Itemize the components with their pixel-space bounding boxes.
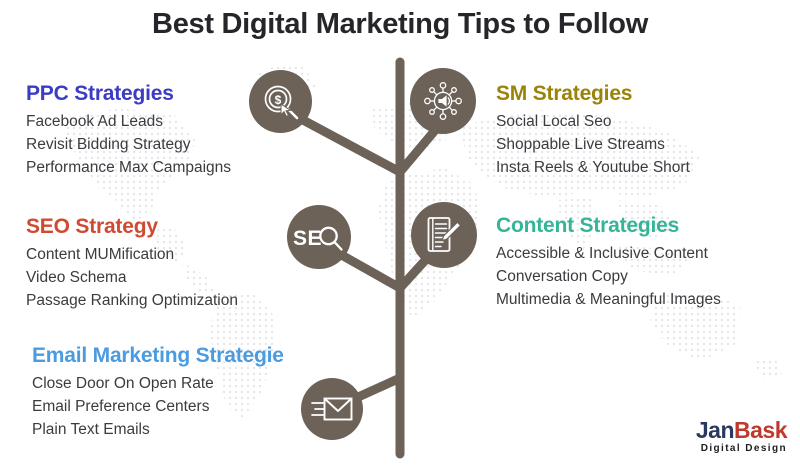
document-pencil-icon: [424, 215, 464, 255]
list-item: Shoppable Live Streams: [496, 134, 690, 157]
icon-node-content[interactable]: [411, 202, 477, 268]
list-item: Plain Text Emails: [32, 419, 284, 442]
icon-node-ppc[interactable]: $: [249, 70, 312, 133]
magnifier-dollar-cursor-icon: $: [261, 82, 301, 122]
list-item: Multimedia & Meaningful Images: [496, 289, 721, 312]
logo-part-bask: Bask: [734, 417, 787, 443]
list-item: Close Door On Open Rate: [32, 373, 284, 396]
list-item: Accessible & Inclusive Content: [496, 243, 721, 266]
list-item: Conversation Copy: [496, 266, 721, 289]
list-item: Social Local Seo: [496, 111, 690, 134]
section-heading-seo: SEO Strategy: [26, 215, 238, 238]
list-item: Facebook Ad Leads: [26, 111, 231, 134]
logo-tagline: Digital Design: [696, 444, 787, 454]
section-seo: SEO Strategy Content MUMification Video …: [26, 215, 238, 312]
icon-node-sm[interactable]: [410, 68, 476, 134]
section-list-sm: Social Local Seo Shoppable Live Streams …: [496, 111, 690, 179]
icon-node-email[interactable]: [301, 378, 363, 440]
envelope-send-icon: [311, 394, 353, 424]
brand-logo[interactable]: JanBask Digital Design: [696, 419, 787, 454]
list-item: Insta Reels & Youtube Short: [496, 157, 690, 180]
section-ppc: PPC Strategies Facebook Ad Leads Revisit…: [26, 82, 231, 179]
section-list-email: Close Door On Open Rate Email Preference…: [32, 373, 284, 441]
section-email: Email Marketing Strategie Close Door On …: [32, 344, 284, 441]
list-item: Content MUMification: [26, 244, 238, 267]
infographic-canvas: Best Digital Marketing Tips to Follow: [0, 0, 800, 466]
seo-magnifier-icon: SE: [291, 221, 347, 253]
section-list-seo: Content MUMification Video Schema Passag…: [26, 244, 238, 312]
page-title: Best Digital Marketing Tips to Follow: [0, 8, 800, 41]
list-item: Revisit Bidding Strategy: [26, 134, 231, 157]
section-heading-email: Email Marketing Strategie: [32, 344, 284, 367]
list-item: Passage Ranking Optimization: [26, 290, 238, 313]
section-heading-sm: SM Strategies: [496, 82, 690, 105]
section-content: Content Strategies Accessible & Inclusiv…: [496, 214, 721, 311]
logo-part-jan: Jan: [696, 417, 734, 443]
logo-wordmark: JanBask: [696, 419, 787, 442]
svg-text:SE: SE: [293, 227, 322, 250]
list-item: Email Preference Centers: [32, 396, 284, 419]
icon-node-seo[interactable]: SE: [287, 205, 351, 269]
section-sm: SM Strategies Social Local Seo Shoppable…: [496, 82, 690, 179]
section-list-content: Accessible & Inclusive Content Conversat…: [496, 243, 721, 311]
list-item: Performance Max Campaigns: [26, 157, 231, 180]
section-list-ppc: Facebook Ad Leads Revisit Bidding Strate…: [26, 111, 231, 179]
list-item: Video Schema: [26, 267, 238, 290]
section-heading-content: Content Strategies: [496, 214, 721, 237]
megaphone-network-icon: [421, 79, 465, 123]
section-heading-ppc: PPC Strategies: [26, 82, 231, 105]
